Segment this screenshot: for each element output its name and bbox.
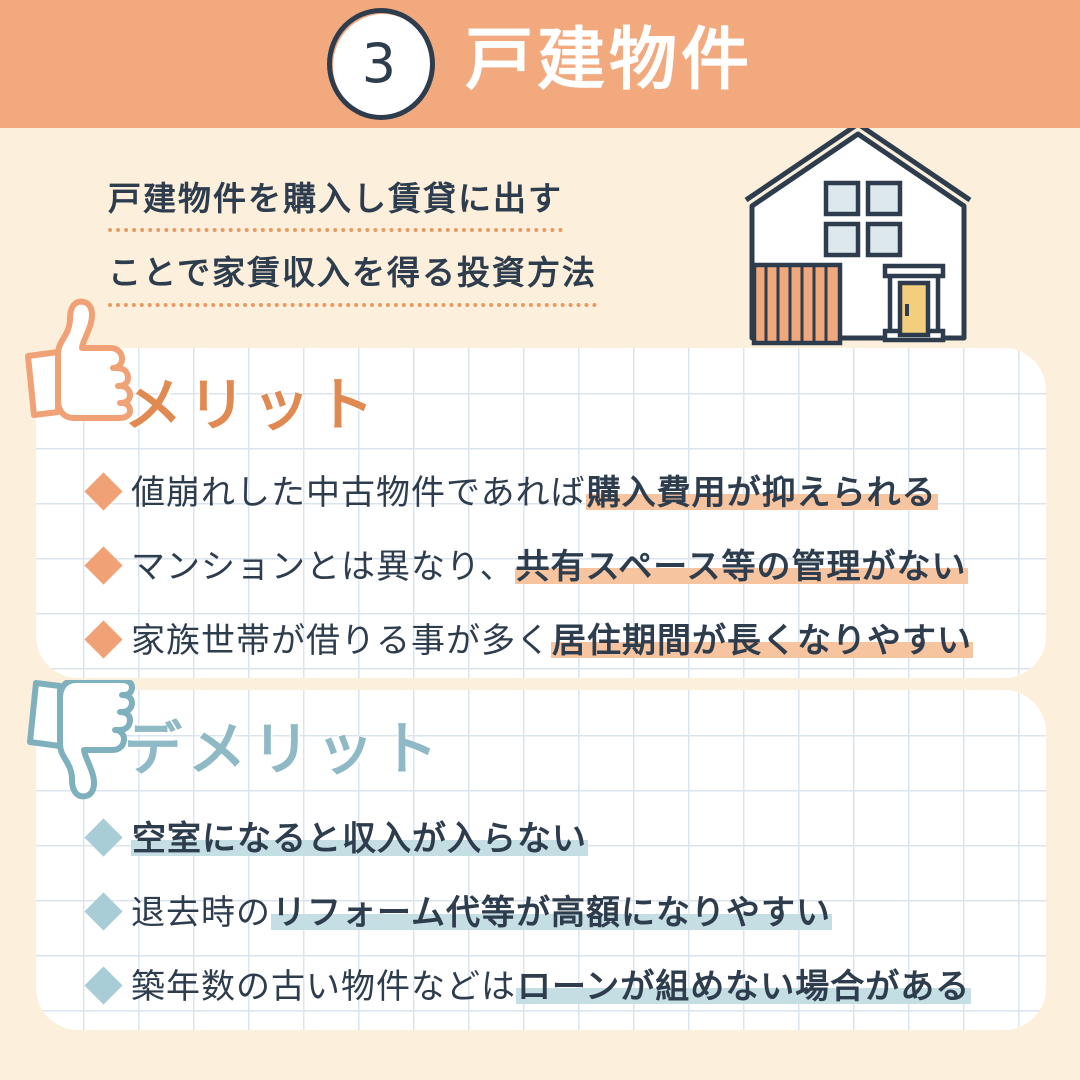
highlight-text: 空室になると収入が入らない — [131, 819, 588, 859]
list-item: 家族世帯が借りる事が多く居住期間が長くなりやすい — [90, 604, 1020, 678]
list-item: 築年数の古い物件などはローンが組めない場合がある — [90, 950, 1020, 1024]
diamond-bullet-icon — [84, 818, 122, 856]
diamond-bullet-icon — [84, 966, 122, 1004]
diamond-bullet-icon — [84, 620, 122, 658]
list-item: 値崩れした中古物件であれば購入費用が抑えられる — [90, 456, 1020, 530]
list-item: 退去時のリフォーム代等が高額になりやすい — [90, 876, 1020, 950]
demerit-panel: デメリット 空室になると収入が入らない 退去時のリフォーム代等が高額になりやすい… — [36, 690, 1046, 1030]
highlight-text: 共有スペース等の管理がない — [515, 547, 968, 587]
demerit-list: 空室になると収入が入らない 退去時のリフォーム代等が高額になりやすい 築年数の古… — [90, 802, 1020, 1024]
description-block: 戸建物件を購入し賃貸に出す ことで家賃収入を得る投資方法 — [108, 178, 688, 307]
thumbs-up-icon — [18, 296, 138, 421]
thumbs-down-icon — [20, 680, 138, 802]
page-title: 戸建物件 — [465, 27, 753, 101]
diamond-bullet-icon — [84, 892, 122, 930]
diamond-bullet-icon — [84, 472, 122, 510]
header-bar: 3 戸建物件 — [0, 0, 1080, 128]
section-number-badge: 3 — [327, 8, 435, 120]
infographic-page: 3 戸建物件 戸建物件を購入し賃貸に出す ことで家賃収入を得る投資方法 — [0, 0, 1080, 1080]
highlight-text: 購入費用が抑えられる — [586, 473, 938, 513]
merit-item-text-2: マンションとは異なり、共有スペース等の管理がない — [131, 547, 968, 588]
merit-list: 値崩れした中古物件であれば購入費用が抑えられる マンションとは異なり、共有スペー… — [90, 456, 1020, 678]
description-line-1: 戸建物件を購入し賃貸に出す — [108, 178, 563, 232]
highlight-text: 居住期間が長くなりやすい — [551, 621, 973, 661]
house-illustration-icon — [740, 128, 990, 363]
demerit-item-text-1: 空室になると収入が入らない — [131, 819, 588, 860]
description-line-2: ことで家賃収入を得る投資方法 — [108, 252, 597, 306]
house-fence — [754, 265, 840, 343]
merit-title: メリット — [124, 376, 380, 434]
highlight-text: リフォーム代等が高額になりやすい — [271, 893, 832, 933]
demerit-item-text-3: 築年数の古い物件などはローンが組めない場合がある — [131, 967, 971, 1008]
merit-item-text-3: 家族世帯が借りる事が多く居住期間が長くなりやすい — [131, 621, 973, 662]
list-item: 空室になると収入が入らない — [90, 802, 1020, 876]
demerit-title: デメリット — [124, 720, 444, 778]
demerit-item-text-2: 退去時のリフォーム代等が高額になりやすい — [131, 893, 832, 934]
merit-item-text-1: 値崩れした中古物件であれば購入費用が抑えられる — [131, 473, 938, 514]
highlight-text: ローンが組めない場合がある — [516, 967, 971, 1007]
list-item: マンションとは異なり、共有スペース等の管理がない — [90, 530, 1020, 604]
house-porch — [885, 266, 943, 340]
merit-panel: メリット 値崩れした中古物件であれば購入費用が抑えられる マンションとは異なり、… — [36, 348, 1046, 678]
section-number: 3 — [362, 37, 400, 91]
diamond-bullet-icon — [84, 546, 122, 584]
